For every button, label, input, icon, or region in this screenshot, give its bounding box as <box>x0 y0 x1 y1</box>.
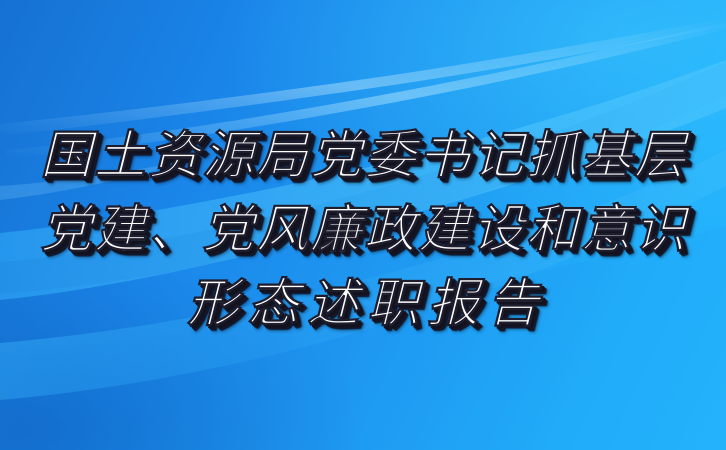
title-char: 党 <box>202 193 254 267</box>
title-char: 风 <box>256 193 308 267</box>
title-line-2: 党 建 、 党 风 廉 政 建 设 和 意 识 <box>40 193 686 267</box>
title-char: 基 <box>580 119 632 193</box>
title-char: 委 <box>364 119 416 193</box>
title-char: 局 <box>256 119 308 193</box>
title-char: 党 <box>310 119 362 193</box>
title-char: 源 <box>202 119 254 193</box>
title-text-block: 国 土 资 源 局 党 委 书 记 抓 基 层 党 建 、 党 风 廉 政 建 … <box>0 0 726 450</box>
title-char: 土 <box>94 119 146 193</box>
title-char: 记 <box>472 119 524 193</box>
title-char: 资 <box>148 119 200 193</box>
title-char: 、 <box>148 193 200 267</box>
title-char: 设 <box>472 193 524 267</box>
title-line-1: 国 土 资 源 局 党 委 书 记 抓 基 层 <box>40 119 686 193</box>
title-char: 和 <box>526 193 578 267</box>
title-char: 识 <box>634 193 686 267</box>
title-char: 书 <box>418 119 470 193</box>
title-banner: 国 土 资 源 局 党 委 书 记 抓 基 层 党 建 、 党 风 廉 政 建 … <box>0 0 726 450</box>
title-char: 政 <box>364 193 416 267</box>
title-char: 党 <box>40 193 92 267</box>
title-char: 抓 <box>526 119 578 193</box>
title-char: 意 <box>580 193 632 267</box>
title-char: 层 <box>634 119 686 193</box>
title-char: 建 <box>94 193 146 267</box>
title-char: 建 <box>418 193 470 267</box>
title-char: 国 <box>40 119 92 193</box>
title-char: 廉 <box>310 193 362 267</box>
title-line-3: 形态述职报告 <box>179 267 547 341</box>
